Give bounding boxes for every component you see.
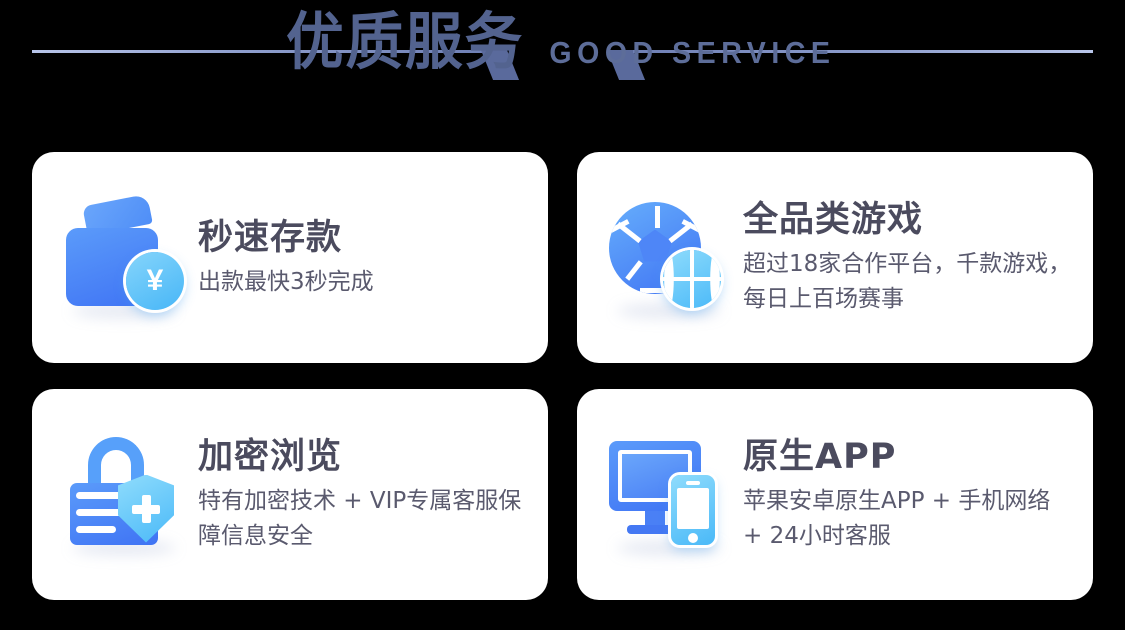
- smartphone-icon: [671, 475, 715, 545]
- card-text-block: 原生APP 苹果安卓原生APP + 手机网络 + 24小时客服: [737, 435, 1075, 554]
- lock-shield-icon: [60, 429, 192, 561]
- feature-card-deposit[interactable]: ¥ 秒速存款 出款最快3秒完成: [32, 152, 548, 363]
- yen-coin-icon: ¥: [126, 252, 184, 310]
- card-description: 特有加密技术 + VIP专属客服保障信息安全: [198, 484, 530, 554]
- feature-card-encryption[interactable]: 加密浏览 特有加密技术 + VIP专属客服保障信息安全: [32, 389, 548, 600]
- currency-symbol: ¥: [147, 266, 164, 296]
- card-title: 加密浏览: [198, 435, 530, 479]
- card-description: 苹果安卓原生APP + 手机网络 + 24小时客服: [743, 484, 1075, 554]
- card-description: 出款最快3秒完成: [198, 265, 530, 300]
- basketball-icon: [663, 250, 721, 308]
- card-title: 秒速存款: [198, 216, 530, 260]
- monitor-phone-icon: [605, 429, 737, 561]
- header-titles: 优质服务 GOOD SERVICE: [0, 0, 1125, 84]
- feature-card-games[interactable]: 全品类游戏 超过18家合作平台，千款游戏，每日上百场赛事: [577, 152, 1093, 363]
- banner-header: 优质服务 GOOD SERVICE: [0, 0, 1125, 146]
- feature-card-grid: ¥ 秒速存款 出款最快3秒完成: [32, 152, 1093, 600]
- page-title: 优质服务: [286, 0, 524, 84]
- card-description: 超过18家合作平台，千款游戏，每日上百场赛事: [743, 247, 1075, 317]
- card-text-block: 全品类游戏 超过18家合作平台，千款游戏，每日上百场赛事: [737, 198, 1075, 317]
- feature-card-native-app[interactable]: 原生APP 苹果安卓原生APP + 手机网络 + 24小时客服: [577, 389, 1093, 600]
- page-subtitle: GOOD SERVICE: [550, 36, 836, 70]
- card-text-block: 秒速存款 出款最快3秒完成: [192, 216, 530, 300]
- card-title: 全品类游戏: [743, 198, 1075, 242]
- card-text-block: 加密浏览 特有加密技术 + VIP专属客服保障信息安全: [192, 435, 530, 554]
- card-title: 原生APP: [743, 435, 1075, 479]
- wallet-coin-icon: ¥: [60, 192, 192, 324]
- service-features-banner: 优质服务 GOOD SERVICE ¥ 秒速存款 出款最快3秒完成: [0, 0, 1125, 630]
- soccer-basketball-icon: [605, 192, 737, 324]
